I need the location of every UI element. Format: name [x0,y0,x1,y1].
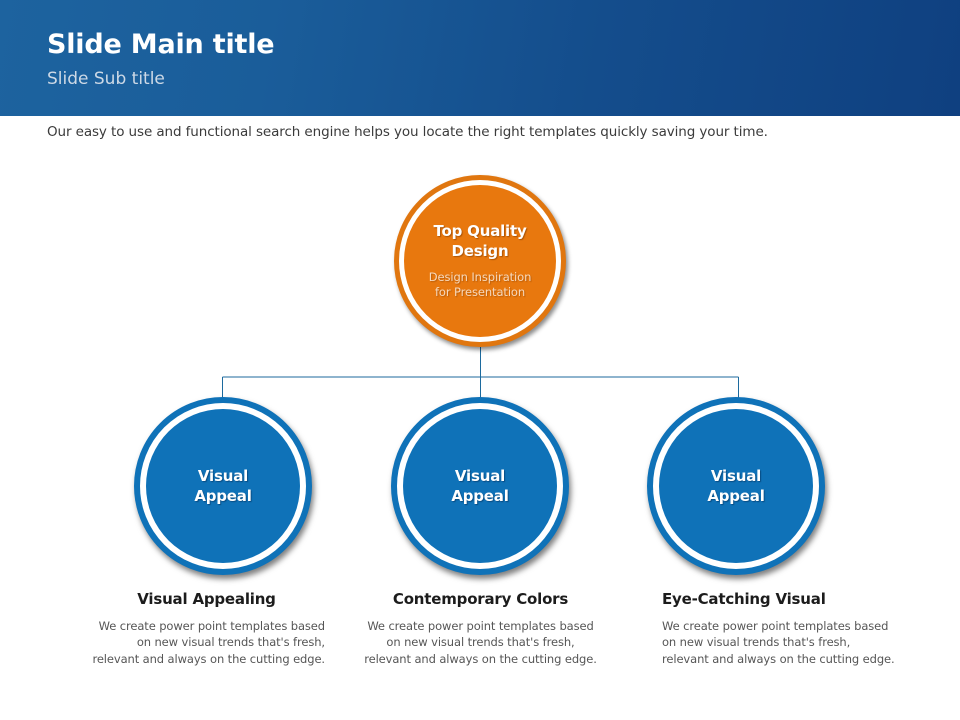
top-node-title-line1: Top Quality [433,222,526,242]
child-node-3[interactable]: Visual Appeal [647,397,825,575]
page-subtitle: Slide Sub title [47,70,165,89]
top-node-subtitle: Design Inspiration for Presentation [429,270,532,299]
child-node-1-label-line1: Visual [194,466,251,486]
top-node-subtitle-line2: for Presentation [429,285,532,300]
child-node-2-label-line1: Visual [451,466,508,486]
child-node-3-outer-ring: Visual Appeal [647,397,825,575]
caption-3-title: Eye-Catching Visual [662,590,899,608]
child-node-2-label-line2: Appeal [451,486,508,506]
caption-2-body: We create power point templates based on… [362,618,599,667]
child-node-1-label-line2: Appeal [194,486,251,506]
top-node-inner-circle: Top Quality Design Design Inspiration fo… [404,185,556,337]
top-node-top-quality-design[interactable]: Top Quality Design Design Inspiration fo… [394,175,566,347]
caption-3-body: We create power point templates based on… [662,618,899,667]
caption-1-title: Visual Appealing [88,590,325,608]
child-node-2[interactable]: Visual Appeal [391,397,569,575]
page-title: Slide Main title [47,30,274,60]
child-node-3-label-line2: Appeal [707,486,764,506]
child-node-1[interactable]: Visual Appeal [134,397,312,575]
child-node-3-label: Visual Appeal [707,466,764,506]
caption-block-3: Eye-Catching Visual We create power poin… [662,590,899,667]
slide-header: Slide Main title Slide Sub title [0,0,960,116]
child-node-1-outer-ring: Visual Appeal [134,397,312,575]
child-node-2-label: Visual Appeal [451,466,508,506]
child-node-3-inner-circle: Visual Appeal [659,409,813,563]
top-node-title-line2: Design [433,242,526,262]
child-node-3-label-line1: Visual [707,466,764,486]
child-node-2-inner-circle: Visual Appeal [403,409,557,563]
top-node-outer-ring: Top Quality Design Design Inspiration fo… [394,175,566,347]
caption-block-1: Visual Appealing We create power point t… [88,590,325,667]
intro-paragraph: Our easy to use and functional search en… [47,124,768,140]
child-node-2-outer-ring: Visual Appeal [391,397,569,575]
top-node-title: Top Quality Design [433,222,526,262]
top-node-subtitle-line1: Design Inspiration [429,270,532,285]
child-node-1-label: Visual Appeal [194,466,251,506]
caption-block-2: Contemporary Colors We create power poin… [362,590,599,667]
caption-2-title: Contemporary Colors [362,590,599,608]
caption-1-body: We create power point templates based on… [88,618,325,667]
child-node-1-inner-circle: Visual Appeal [146,409,300,563]
